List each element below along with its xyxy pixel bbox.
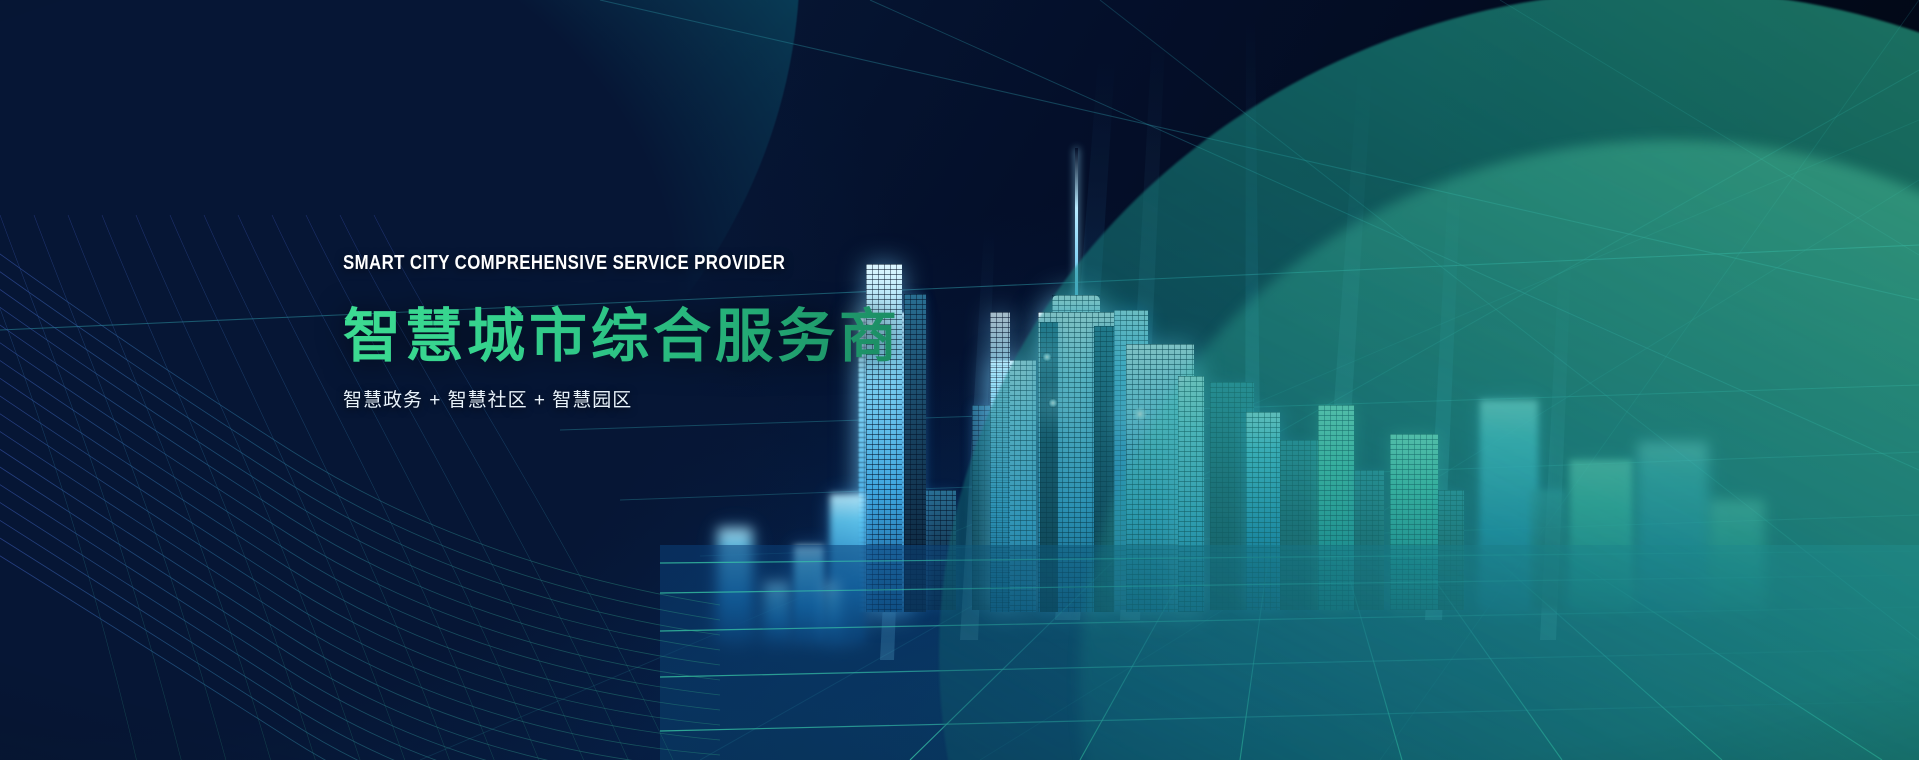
page-title: 智慧城市综合服务商	[343, 289, 901, 373]
subtitle-text: 智慧政务 + 智慧社区 + 智慧园区	[343, 385, 901, 412]
hero-copy: SMART CITY COMPREHENSIVE SERVICE PROVIDE…	[343, 252, 901, 412]
hero-banner: SMART CITY COMPREHENSIVE SERVICE PROVIDE…	[0, 0, 1919, 760]
eyebrow-text: SMART CITY COMPREHENSIVE SERVICE PROVIDE…	[343, 252, 812, 275]
